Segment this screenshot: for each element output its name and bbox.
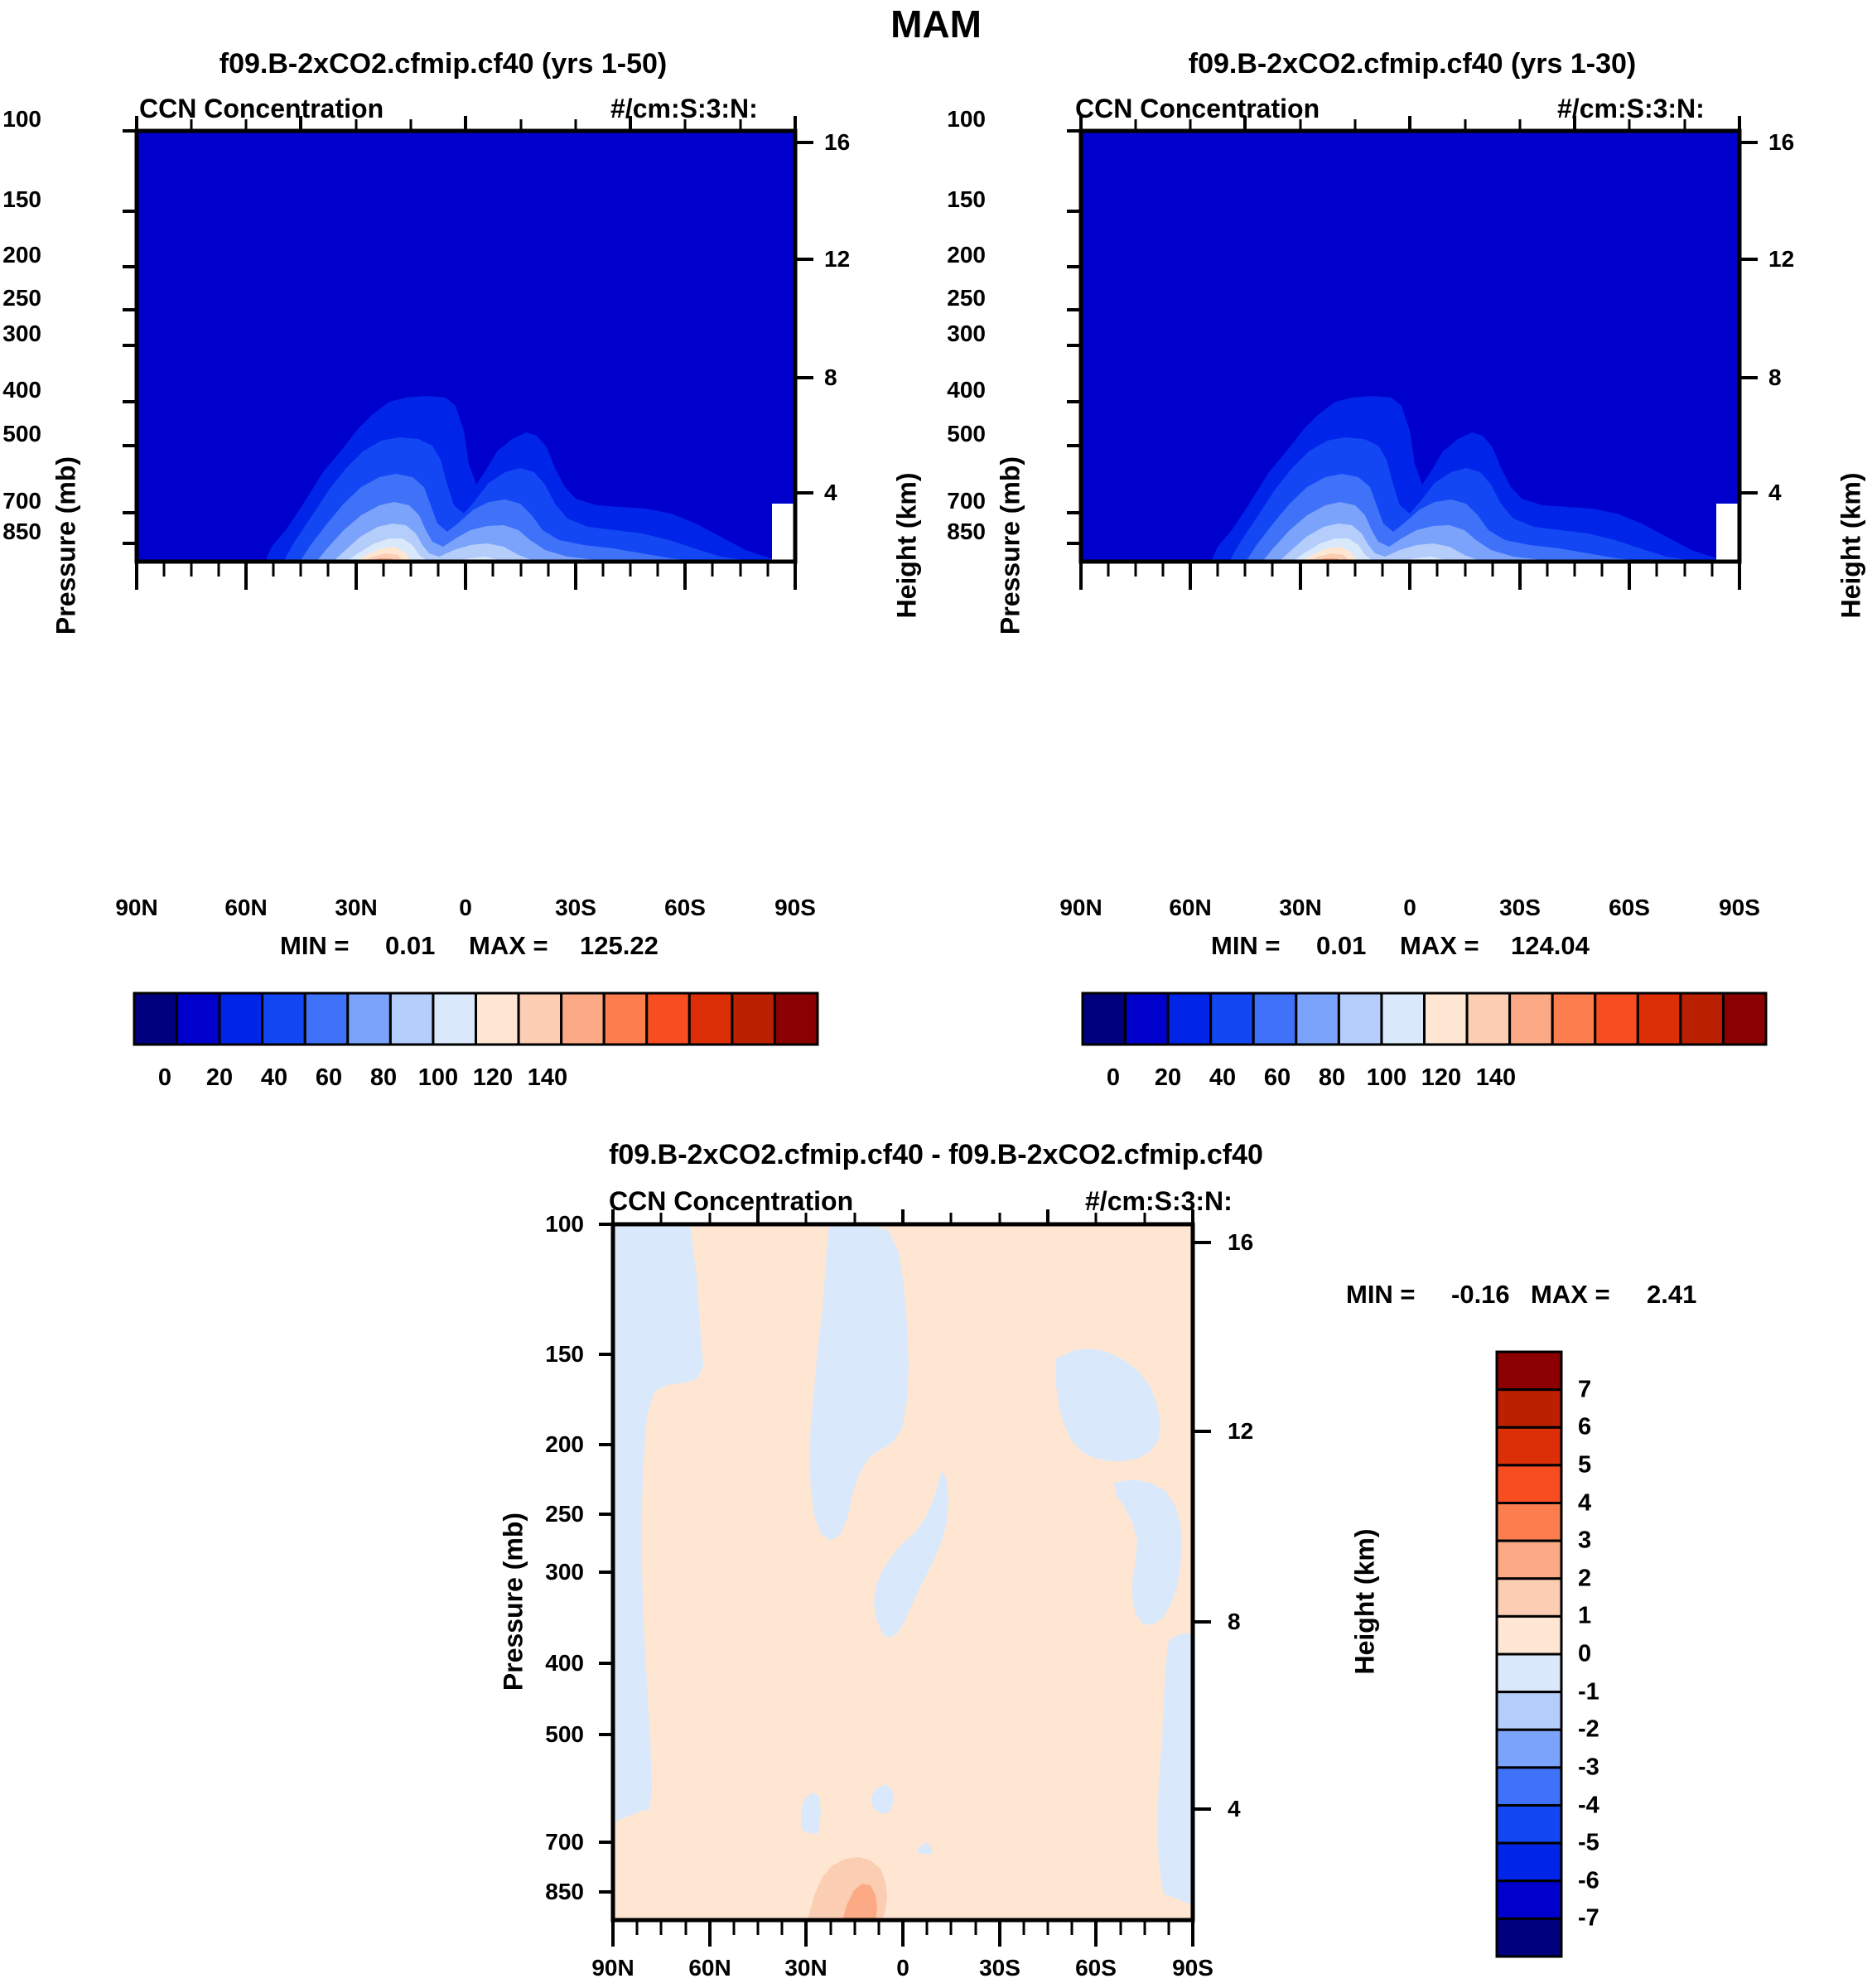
colorbar-tick-label: 40 [1209, 1064, 1236, 1092]
max-label-top-right: MAX = [1400, 931, 1479, 961]
colorbar-tick-label: -1 [1578, 1678, 1599, 1706]
x-top-ticks-top-right [1081, 116, 1739, 131]
x-tick-label: 60S [1609, 895, 1650, 921]
colorbar-bottom-swatch [1497, 1730, 1561, 1768]
y-axis-title-bottom: Pressure (mb) [499, 1461, 529, 1743]
colorbar-top-left-swatch [519, 993, 562, 1045]
colorbar-tick-label: -6 [1578, 1867, 1599, 1894]
colorbar-tick-label: 60 [316, 1064, 342, 1092]
colorbar-top-right-swatch [1510, 993, 1553, 1045]
colorbar-top-right-swatch [1382, 993, 1425, 1045]
x-tick-label: 90N [591, 1955, 634, 1981]
x-tick-label: 0 [896, 1955, 909, 1981]
colorbar-tick-label: 4 [1578, 1489, 1591, 1517]
x-tick-label: 30S [555, 895, 596, 921]
y-tick-label: 200 [947, 242, 986, 268]
y-axis-title-top-left: Pressure (mb) [51, 422, 82, 670]
y2-ticks-top-left [795, 142, 813, 493]
colorbar-top-right-swatch [1467, 993, 1510, 1045]
colorbar-bottom-swatch [1497, 1616, 1561, 1654]
y-tick-label: 200 [2, 242, 41, 268]
colorbar-top-left-swatch [305, 993, 348, 1045]
y-tick-label: 850 [545, 1879, 584, 1905]
colorbar-top-right-swatch [1552, 993, 1595, 1045]
y-tick-label: 700 [2, 488, 41, 514]
y2-tick-label: 8 [1768, 364, 1782, 391]
colorbar-top-right-swatch [1339, 993, 1382, 1045]
panel-title-top-left: f09.B-2xCO2.cfmip.cf40 (yrs 1-50) [220, 48, 667, 80]
x-tick-label: 90S [1172, 1955, 1213, 1981]
y-tick-label: 250 [545, 1501, 584, 1527]
colorbar-bottom-swatch [1497, 1541, 1561, 1579]
y2-tick-label: 16 [824, 129, 850, 156]
x-tick-label: 60S [664, 895, 706, 921]
colorbar-tick-label: 20 [206, 1064, 233, 1092]
x-top-ticks-top-left [137, 116, 795, 131]
y2-tick-label: 4 [824, 480, 837, 506]
colorbar-top-right-swatch [1211, 993, 1254, 1045]
y2-tick-label: 12 [824, 246, 850, 273]
y-tick-label: 150 [2, 186, 41, 213]
y2-axis-title-bottom: Height (km) [1350, 1461, 1381, 1743]
colorbar-bottom-swatch [1497, 1427, 1561, 1465]
x-bottom-ticks-bottom [613, 1920, 1193, 1947]
colorbar-tick-label: 100 [1367, 1064, 1406, 1092]
y2-tick-label: 4 [1768, 480, 1782, 506]
y-tick-label: 100 [2, 106, 41, 133]
x-top-ticks-bottom [613, 1209, 1193, 1224]
panel-title-bottom: f09.B-2xCO2.cfmip.cf40 - f09.B-2xCO2.cfm… [609, 1139, 1263, 1171]
colorbar-tick-label: 0 [158, 1064, 171, 1092]
y-tick-label: 100 [947, 106, 986, 133]
y-tick-label: 150 [545, 1341, 584, 1368]
colorbar-top-left-swatch [689, 993, 732, 1045]
y-ticks-top-left [123, 131, 137, 543]
y-tick-label: 500 [545, 1721, 584, 1748]
colorbar-tick-label: 3 [1578, 1527, 1591, 1555]
x-tick-label: 0 [1403, 895, 1416, 921]
y-tick-label: 500 [947, 421, 986, 447]
y-tick-label: 400 [947, 377, 986, 403]
contour-plot-top-right [1002, 116, 1764, 953]
min-label-top-right: MIN = [1211, 931, 1281, 961]
x-tick-label: 60S [1075, 1955, 1117, 1981]
colorbar-top-right-swatch [1253, 993, 1296, 1045]
min-value-bottom: -0.16 [1451, 1280, 1510, 1310]
min-value-top-right: 0.01 [1316, 931, 1366, 961]
colorbar-bottom-swatch [1497, 1918, 1561, 1957]
colorbar-top-right-swatch [1168, 993, 1211, 1045]
figure-suptitle: MAM [890, 2, 982, 46]
y-tick-label: 300 [2, 321, 41, 347]
x-tick-label: 30N [784, 1955, 827, 1981]
x-tick-label: 90S [1719, 895, 1760, 921]
colorbar-top-left-swatch [134, 993, 177, 1045]
y-axis-title-top-right: Pressure (mb) [996, 422, 1026, 670]
colorbar-bottom-swatch [1497, 1579, 1561, 1617]
panel-title-top-right: f09.B-2xCO2.cfmip.cf40 (yrs 1-30) [1189, 48, 1636, 80]
colorbar-top-right-swatch [1723, 993, 1766, 1045]
y-tick-label: 400 [545, 1650, 584, 1677]
colorbar-bottom-swatch [1497, 1692, 1561, 1730]
y-tick-label: 850 [2, 519, 41, 545]
y-tick-label: 150 [947, 186, 986, 213]
colorbar-bottom-swatch [1497, 1881, 1561, 1919]
colorbar-bottom-swatch [1497, 1806, 1561, 1844]
x-tick-label: 30S [979, 1955, 1020, 1981]
figure-canvas: MAM f09.B-2xCO2.cfmip.cf40 (yrs 1-50) CC… [0, 0, 1872, 1988]
contour-plot-top-left [58, 116, 820, 953]
y-tick-label: 250 [2, 285, 41, 311]
colorbar-top-right-swatch [1083, 993, 1126, 1045]
y2-tick-label: 16 [1228, 1229, 1253, 1256]
colorbar-top-left-swatch [647, 993, 690, 1045]
colorbar-bottom-swatch [1497, 1465, 1561, 1503]
y2-tick-label: 12 [1228, 1418, 1253, 1445]
colorbar-tick-label: 120 [473, 1064, 513, 1092]
colorbar-tick-label: 1 [1578, 1603, 1591, 1630]
y-tick-label: 300 [947, 321, 986, 347]
colorbar-tick-label: 0 [1107, 1064, 1120, 1092]
x-tick-label: 90S [774, 895, 816, 921]
colorbar-tick-label: 120 [1421, 1064, 1461, 1092]
y2-axis-title-top-left: Height (km) [892, 422, 923, 670]
y-tick-label: 500 [2, 421, 41, 447]
colorbar-top-left-swatch [433, 993, 476, 1045]
colorbar-tick-label: 140 [528, 1064, 567, 1092]
terrain-mask2-top-right [1723, 522, 1739, 562]
colorbar-top-left-swatch [390, 993, 433, 1045]
x-tick-label: 60N [224, 895, 267, 921]
x-tick-label: 30S [1499, 895, 1541, 921]
y-tick-label: 300 [545, 1559, 584, 1585]
colorbar-top-right-swatch [1425, 993, 1468, 1045]
max-value-bottom: 2.41 [1647, 1280, 1696, 1310]
min-value-top-left: 0.01 [385, 931, 435, 961]
x-tick-label: 60N [688, 1955, 731, 1981]
x-tick-label: 60N [1169, 895, 1211, 921]
y2-tick-label: 4 [1228, 1796, 1241, 1822]
colorbar-tick-label: 2 [1578, 1565, 1591, 1592]
colorbar-top-left-swatch [732, 993, 775, 1045]
y2-ticks-top-right [1739, 142, 1758, 493]
colorbar-bottom-swatch [1497, 1843, 1561, 1881]
colorbar-tick-label: 5 [1578, 1451, 1591, 1479]
y2-axis-title-top-right: Height (km) [1836, 422, 1867, 670]
colorbar-top-right-swatch [1296, 993, 1339, 1045]
colorbar-top-left-swatch [177, 993, 220, 1045]
colorbar-top-left-swatch [263, 993, 306, 1045]
colorbar-tick-label: 40 [261, 1064, 287, 1092]
colorbar-top-right-swatch [1126, 993, 1169, 1045]
y2-tick-label: 16 [1768, 129, 1794, 156]
x-tick-label: 0 [459, 895, 472, 921]
colorbar-top-right-swatch [1595, 993, 1638, 1045]
colorbar-top-left-swatch [774, 993, 818, 1045]
colorbar-top-right-swatch [1638, 993, 1681, 1045]
colorbar-tick-label: -3 [1578, 1754, 1599, 1781]
max-label-bottom: MAX = [1531, 1280, 1610, 1310]
colorbar-tick-label: 80 [1319, 1064, 1345, 1092]
max-value-top-right: 124.04 [1511, 931, 1590, 961]
colorbar-top-right [1081, 992, 1768, 1049]
colorbar-tick-label: -4 [1578, 1792, 1599, 1819]
x-tick-label: 30N [1279, 895, 1321, 921]
y-tick-label: 700 [947, 488, 986, 514]
y-tick-label: 400 [2, 377, 41, 403]
colorbar-tick-label: -2 [1578, 1716, 1599, 1744]
colorbar-bottom-swatch [1497, 1503, 1561, 1542]
colorbar-bottom-swatch [1497, 1352, 1561, 1390]
colorbar-tick-label: 7 [1578, 1376, 1591, 1403]
colorbar-tick-label: 60 [1264, 1064, 1291, 1092]
y-tick-label: 250 [947, 285, 986, 311]
colorbar-top-left-swatch [562, 993, 605, 1045]
colorbar-top-left-swatch [348, 993, 391, 1045]
colorbar-bottom [1495, 1350, 1578, 1963]
colorbar-bottom-swatch [1497, 1654, 1561, 1692]
x-tick-label: 30N [335, 895, 377, 921]
x-bottom-ticks-top-left [137, 562, 795, 590]
colorbar-top-left-swatch [604, 993, 647, 1045]
max-value-top-left: 125.22 [580, 931, 659, 961]
x-bottom-ticks-top-right [1081, 562, 1739, 590]
y-ticks-bottom [599, 1224, 613, 1892]
x-tick-label: 90N [115, 895, 157, 921]
y2-tick-label: 12 [1768, 246, 1794, 273]
colorbar-tick-label: 80 [370, 1064, 397, 1092]
colorbar-top-left-swatch [476, 993, 519, 1045]
y2-tick-label: 8 [1228, 1609, 1241, 1635]
min-label-bottom: MIN = [1346, 1280, 1416, 1310]
min-label-top-left: MIN = [280, 931, 350, 961]
colorbar-tick-label: 140 [1476, 1064, 1516, 1092]
colorbar-top-right-swatch [1681, 993, 1724, 1045]
colorbar-tick-label: 100 [418, 1064, 458, 1092]
y-tick-label: 200 [545, 1431, 584, 1458]
y2-ticks-bottom [1193, 1242, 1211, 1809]
y2-tick-label: 8 [824, 364, 837, 391]
colorbar-top-left-swatch [220, 993, 263, 1045]
x-tick-label: 90N [1059, 895, 1102, 921]
max-label-top-left: MAX = [469, 931, 548, 961]
colorbar-tick-label: -7 [1578, 1905, 1599, 1933]
colorbar-tick-label: 20 [1155, 1064, 1181, 1092]
contour-plot-bottom [534, 1209, 1296, 1955]
colorbar-bottom-swatch [1497, 1768, 1561, 1806]
colorbar-top-left [133, 992, 820, 1049]
y-tick-label: 700 [545, 1829, 584, 1855]
y-tick-label: 100 [545, 1211, 584, 1238]
colorbar-tick-label: -5 [1578, 1830, 1599, 1857]
colorbar-tick-label: 6 [1578, 1414, 1591, 1441]
terrain-mask2-top-left [779, 522, 795, 562]
colorbar-tick-label: 0 [1578, 1641, 1591, 1668]
colorbar-bottom-swatch [1497, 1390, 1561, 1428]
y-ticks-top-right [1067, 131, 1081, 543]
y-tick-label: 850 [947, 519, 986, 545]
